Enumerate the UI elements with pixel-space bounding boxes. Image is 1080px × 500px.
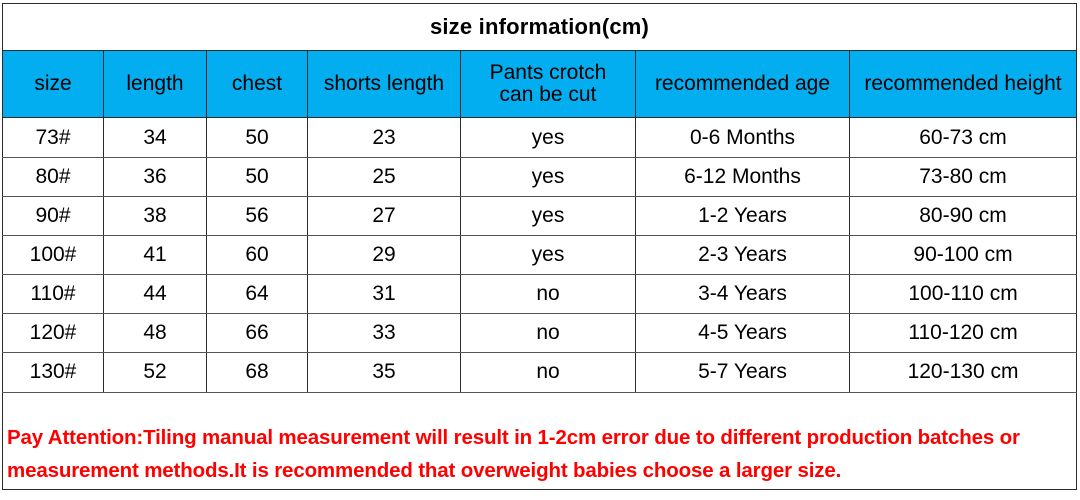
cell-pants-crotch: no <box>461 314 636 353</box>
cell-chest: 66 <box>207 314 308 353</box>
cell-chest: 50 <box>207 118 308 157</box>
cell-recommended-height: 60-73 cm <box>850 118 1077 157</box>
table-row: 130# 52 68 35 no 5-7 Years 120-130 cm <box>3 353 1077 392</box>
cell-length: 44 <box>104 275 207 314</box>
cell-recommended-age: 1-2 Years <box>636 196 850 235</box>
cell-recommended-age: 4-5 Years <box>636 314 850 353</box>
cell-pants-crotch: yes <box>461 157 636 196</box>
cell-pants-crotch: yes <box>461 118 636 157</box>
table-row: 120# 48 66 33 no 4-5 Years 110-120 cm <box>3 314 1077 353</box>
table-row: 73# 34 50 23 yes 0-6 Months 60-73 cm <box>3 118 1077 157</box>
cell-size: 110# <box>3 275 104 314</box>
table-header-row: size length chest shorts length Pants cr… <box>3 51 1077 118</box>
column-header-pants-crotch-can-be-cut: Pants crotch can be cut <box>461 51 636 118</box>
column-header-shorts-length: shorts length <box>308 51 461 118</box>
cell-recommended-height: 80-90 cm <box>850 196 1077 235</box>
column-header-recommended-height: recommended height <box>850 51 1077 118</box>
column-header-size: size <box>3 51 104 118</box>
cell-chest: 60 <box>207 235 308 274</box>
cell-recommended-height: 100-110 cm <box>850 275 1077 314</box>
cell-recommended-height: 110-120 cm <box>850 314 1077 353</box>
table-row: 110# 44 64 31 no 3-4 Years 100-110 cm <box>3 275 1077 314</box>
column-header-length: length <box>104 51 207 118</box>
notes-row: Pay Attention:Tiling manual measurement … <box>3 392 1077 489</box>
cell-length: 34 <box>104 118 207 157</box>
cell-length: 41 <box>104 235 207 274</box>
cell-recommended-age: 6-12 Months <box>636 157 850 196</box>
attention-note: Pay Attention:Tiling manual measurement … <box>3 392 1077 489</box>
cell-size: 80# <box>3 157 104 196</box>
cell-length: 36 <box>104 157 207 196</box>
cell-size: 120# <box>3 314 104 353</box>
cell-pants-crotch: yes <box>461 196 636 235</box>
cell-recommended-age: 2-3 Years <box>636 235 850 274</box>
cell-size: 100# <box>3 235 104 274</box>
cell-shorts-length: 33 <box>308 314 461 353</box>
table-row: 80# 36 50 25 yes 6-12 Months 73-80 cm <box>3 157 1077 196</box>
cell-chest: 68 <box>207 353 308 392</box>
cell-recommended-age: 5-7 Years <box>636 353 850 392</box>
size-information-table: size information(cm) size length chest s… <box>2 3 1077 490</box>
table-body: size information(cm) size length chest s… <box>3 4 1077 490</box>
cell-length: 52 <box>104 353 207 392</box>
cell-recommended-age: 0-6 Months <box>636 118 850 157</box>
table-row: 90# 38 56 27 yes 1-2 Years 80-90 cm <box>3 196 1077 235</box>
cell-chest: 64 <box>207 275 308 314</box>
attention-note-line-2: measurement methods.It is recommended th… <box>7 454 1070 487</box>
attention-note-line-1: Pay Attention:Tiling manual measurement … <box>7 421 1070 454</box>
title-row: size information(cm) <box>3 4 1077 51</box>
cell-pants-crotch: no <box>461 353 636 392</box>
cell-shorts-length: 23 <box>308 118 461 157</box>
cell-shorts-length: 27 <box>308 196 461 235</box>
cell-shorts-length: 25 <box>308 157 461 196</box>
cell-shorts-length: 31 <box>308 275 461 314</box>
cell-recommended-height: 120-130 cm <box>850 353 1077 392</box>
cell-size: 90# <box>3 196 104 235</box>
size-chart-page: size information(cm) size length chest s… <box>0 0 1080 500</box>
cell-length: 48 <box>104 314 207 353</box>
cell-pants-crotch: no <box>461 275 636 314</box>
cell-pants-crotch: yes <box>461 235 636 274</box>
cell-chest: 50 <box>207 157 308 196</box>
column-header-recommended-age: recommended age <box>636 51 850 118</box>
cell-length: 38 <box>104 196 207 235</box>
cell-shorts-length: 35 <box>308 353 461 392</box>
cell-recommended-height: 90-100 cm <box>850 235 1077 274</box>
cell-chest: 56 <box>207 196 308 235</box>
cell-size: 73# <box>3 118 104 157</box>
page-title: size information(cm) <box>3 4 1077 51</box>
cell-recommended-height: 73-80 cm <box>850 157 1077 196</box>
cell-shorts-length: 29 <box>308 235 461 274</box>
table-row: 100# 41 60 29 yes 2-3 Years 90-100 cm <box>3 235 1077 274</box>
cell-recommended-age: 3-4 Years <box>636 275 850 314</box>
cell-size: 130# <box>3 353 104 392</box>
column-header-chest: chest <box>207 51 308 118</box>
